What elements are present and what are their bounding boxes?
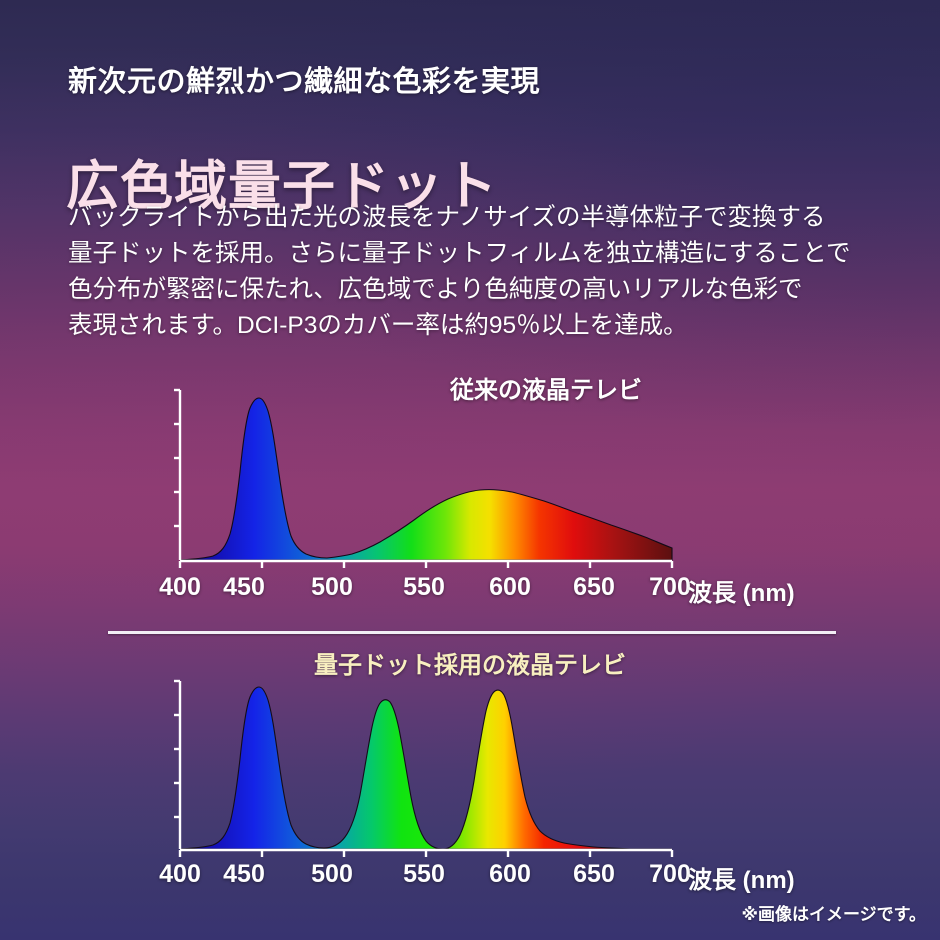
spectrum-plot-conventional <box>0 384 940 569</box>
body-paragraph: バックライトから出た光の波長をナノサイズの半導体粒子で変換する 量子ドットを採用… <box>68 200 898 344</box>
spectrum-svg-quantum-dot <box>0 677 940 857</box>
x-label-650-quantum-dot: 650 <box>573 860 615 889</box>
x-label-450-conventional: 450 <box>223 573 265 602</box>
x-axis-unit-quantum-dot: 波長 (nm) <box>688 860 795 895</box>
x-label-500-quantum-dot: 500 <box>311 860 353 889</box>
x-axis-unit-conventional: 波長 (nm) <box>688 573 795 608</box>
x-label-550-conventional: 550 <box>403 573 445 602</box>
spectrum-area-quantum-dot <box>180 687 672 849</box>
chart-quantum-dot-lcd: 量子ドット採用の液晶テレビ <box>0 645 940 900</box>
chart-conventional-lcd: 従来の液晶テレビ <box>0 370 940 615</box>
chart-title-quantum-dot: 量子ドット採用の液晶テレビ <box>0 645 940 680</box>
x-label-400-quantum-dot: 400 <box>159 860 201 889</box>
body-line-1: バックライトから出た光の波長をナノサイズの半導体粒子で変換する <box>68 200 898 236</box>
kicker-text: 新次元の鮮烈かつ繊細な色彩を実現 <box>68 58 540 100</box>
x-label-700-quantum-dot: 700 <box>649 860 691 889</box>
page-content: 新次元の鮮烈かつ繊細な色彩を実現 広色域量子ドット バックライトから出た光の波長… <box>0 0 940 940</box>
x-label-600-conventional: 600 <box>489 573 531 602</box>
x-axis-labels-conventional: 400 450 500 550 600 650 700 波長 (nm) <box>0 573 940 607</box>
image-disclaimer-footnote: ※画像はイメージです。 <box>742 900 927 925</box>
spectrum-area-conventional <box>180 398 672 560</box>
x-label-600-quantum-dot: 600 <box>489 860 531 889</box>
body-line-3: 色分布が緊密に保たれ、広色域でより色純度の高いリアルな色彩で <box>68 272 898 308</box>
x-label-500-conventional: 500 <box>311 573 353 602</box>
x-label-550-quantum-dot: 550 <box>403 860 445 889</box>
promo-page: 新次元の鮮烈かつ繊細な色彩を実現 広色域量子ドット バックライトから出た光の波長… <box>0 0 940 940</box>
x-label-400-conventional: 400 <box>159 573 201 602</box>
section-divider <box>108 631 836 634</box>
x-axis-labels-quantum-dot: 400 450 500 550 600 650 700 波長 (nm) <box>0 860 940 894</box>
spectrum-plot-quantum-dot <box>0 677 940 857</box>
x-label-700-conventional: 700 <box>649 573 691 602</box>
spectrum-svg-conventional <box>0 384 940 569</box>
body-line-4: 表現されます。DCI-P3のカバー率は約95％以上を達成。 <box>68 308 898 344</box>
x-label-650-conventional: 650 <box>573 573 615 602</box>
x-label-450-quantum-dot: 450 <box>223 860 265 889</box>
body-line-2: 量子ドットを採用。さらに量子ドットフィルムを独立構造にすることで <box>68 236 898 272</box>
